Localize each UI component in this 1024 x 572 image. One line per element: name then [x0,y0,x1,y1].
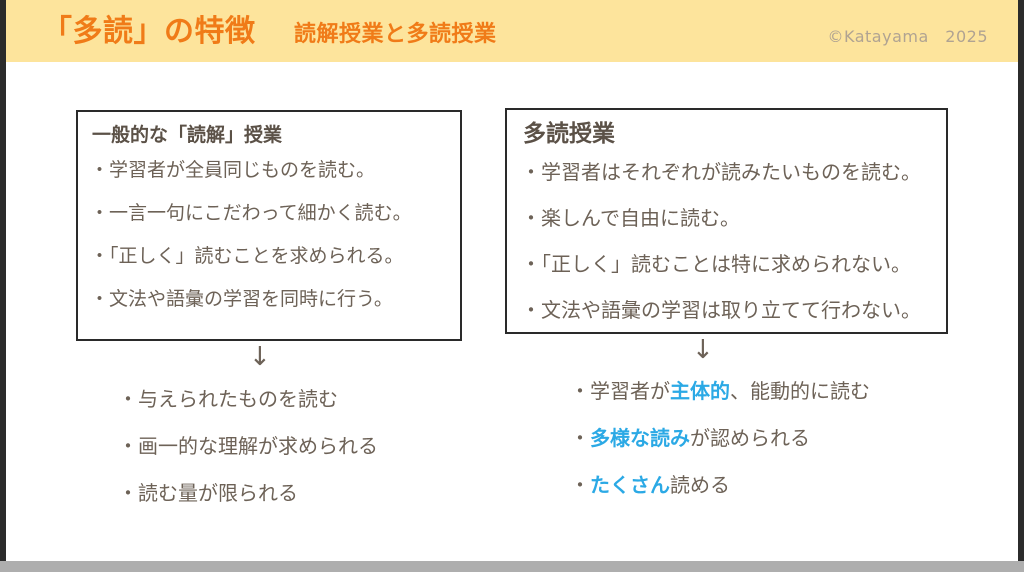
list-item-text: ・ [570,473,590,497]
slide-header-band: 「多読」の特徴 読解授業と多読授業 ©Katayama 2025 [6,0,1018,62]
window-frame-left-edge [0,0,6,572]
highlighted-term: 多様な読み [590,426,690,450]
left-panel-list: ・学習者が全員同じものを読む。 ・一言一句にこだわって細かく読む。 ・「正しく」… [90,161,412,333]
list-item: ・たくさん読める [570,475,870,495]
list-item: ・学習者はそれぞれが読みたいものを読む。 [521,162,921,182]
list-item-text: ・与えられたものを読む [118,387,338,411]
down-arrow-icon: ↓ [692,337,714,363]
left-panel-box: 一般的な「読解」授業 ・学習者が全員同じものを読む。 ・一言一句にこだわって細か… [76,110,462,341]
right-panel-heading: 多読授業 [523,123,615,146]
list-item-text: ・読む量が限られる [118,481,298,505]
slide-canvas: 「多読」の特徴 読解授業と多読授業 ©Katayama 2025 一般的な「読解… [0,0,1024,572]
left-outcomes-list: ・与えられたものを読む・画一的な理解が求められる・読む量が限られる [118,389,378,530]
highlighted-term: たくさん [590,473,670,497]
list-item: ・学習者が主体的、能動的に読む [570,381,870,401]
copyright-credit: ©Katayama 2025 [828,29,988,45]
page-subtitle: 読解授業と多読授業 [294,24,497,46]
list-item-text: ・画一的な理解が求められる [118,434,378,458]
list-item: ・一言一句にこだわって細かく読む。 [90,204,412,223]
list-item: ・文法や語彙の学習を同時に行う。 [90,290,412,309]
window-frame-right-edge [1018,0,1024,572]
right-outcomes-list: ・学習者が主体的、能動的に読む・多様な読みが認められる・たくさん読める [570,381,870,522]
list-item: ・「正しく」読むことを求められる。 [90,247,412,266]
list-item-text: ・学習者が [570,379,670,403]
list-item: ・楽しんで自由に読む。 [521,208,921,228]
list-item: ・文法や語彙の学習は取り立てて行わない。 [521,300,921,320]
list-item: ・読む量が限られる [118,483,378,503]
list-item-text: ・ [570,426,590,450]
list-item: ・「正しく」読むことは特に求められない。 [521,254,921,274]
list-item-text: 、能動的に読む [730,379,870,403]
highlighted-term: 主体的 [670,379,730,403]
down-arrow-icon: ↓ [249,344,271,370]
list-item: ・学習者が全員同じものを読む。 [90,161,412,180]
list-item-text: が認められる [690,426,810,450]
list-item-text: 読める [670,473,730,497]
list-item: ・画一的な理解が求められる [118,436,378,456]
left-panel-heading: 一般的な「読解」授業 [92,126,282,145]
list-item: ・多様な読みが認められる [570,428,870,448]
bottom-status-bar [0,561,1024,572]
list-item: ・与えられたものを読む [118,389,378,409]
right-panel-list: ・学習者はそれぞれが読みたいものを読む。 ・楽しんで自由に読む。 ・「正しく」読… [521,162,921,346]
page-title: 「多読」の特徴 [42,17,256,47]
right-panel-box: 多読授業 ・学習者はそれぞれが読みたいものを読む。 ・楽しんで自由に読む。 ・「… [505,108,948,334]
